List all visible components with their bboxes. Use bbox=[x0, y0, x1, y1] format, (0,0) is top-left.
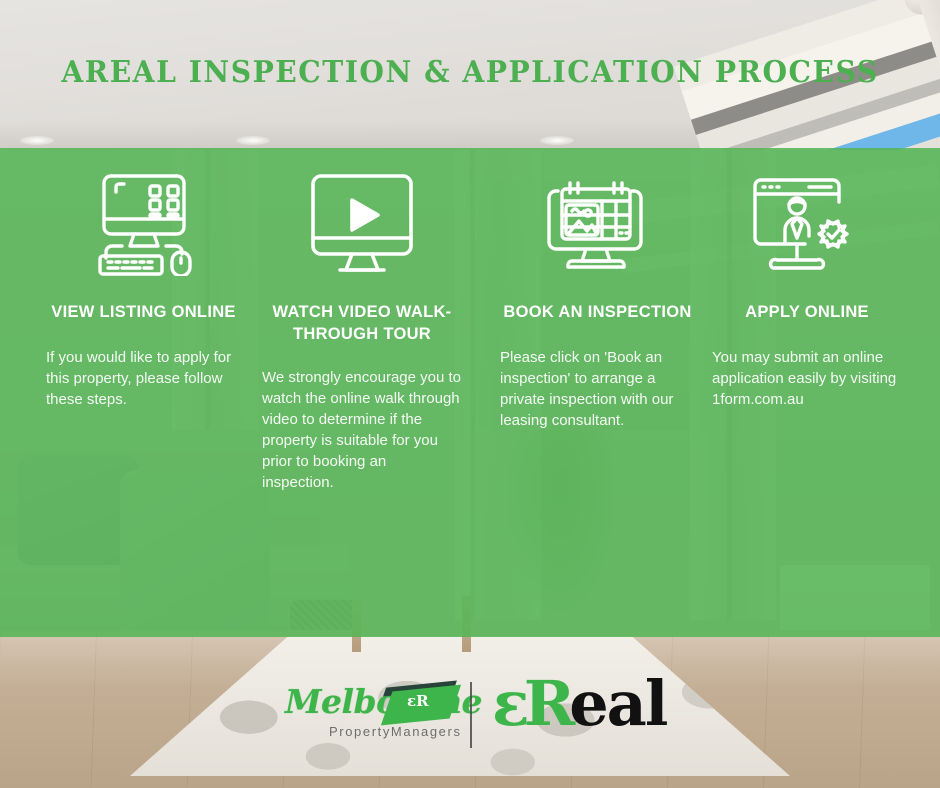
property-managers-subtitle: PropertyManagers bbox=[329, 724, 462, 739]
step-body: If you would like to apply for this prop… bbox=[46, 347, 241, 410]
step-body: We strongly encourage you to watch the o… bbox=[262, 367, 462, 493]
melbourne-property-managers-logo[interactable]: Melbourne ɛR PropertyManagers bbox=[285, 678, 455, 748]
step-view-listing-online[interactable]: VIEW LISTING ONLINE If you would like to… bbox=[46, 148, 241, 637]
steps-row: VIEW LISTING ONLINE If you would like to… bbox=[0, 148, 940, 637]
monitor-calendar-photo-icon bbox=[500, 148, 695, 291]
step-apply-online[interactable]: APPLY ONLINE You may submit an online ap… bbox=[712, 148, 902, 637]
step-watch-video-walkthrough[interactable]: WATCH VIDEO WALK-THROUGH TOUR We strongl… bbox=[262, 148, 462, 637]
monitor-keyboard-mouse-icon bbox=[46, 148, 241, 291]
ceiling-light bbox=[236, 136, 270, 145]
areal-er-mark: ɛR bbox=[492, 667, 569, 740]
monitor-play-video-icon bbox=[262, 148, 462, 291]
page-title: AREAL INSPECTION & APPLICATION PROCESS bbox=[28, 55, 912, 90]
step-heading: WATCH VIDEO WALK-THROUGH TOUR bbox=[262, 301, 462, 345]
ceiling-light bbox=[20, 136, 54, 145]
step-heading: BOOK AN INSPECTION bbox=[500, 301, 695, 323]
logo-divider bbox=[470, 682, 472, 748]
step-heading: APPLY ONLINE bbox=[712, 301, 902, 323]
step-heading: VIEW LISTING ONLINE bbox=[46, 301, 241, 323]
er-monogram: ɛR bbox=[407, 692, 429, 710]
monitor-person-gear-check-icon bbox=[712, 148, 902, 291]
step-book-an-inspection[interactable]: BOOK AN INSPECTION Please click on 'Book… bbox=[500, 148, 695, 637]
ceiling-light bbox=[540, 136, 574, 145]
step-body: You may submit an online application eas… bbox=[712, 347, 902, 410]
areal-wordmark: eal bbox=[569, 667, 666, 740]
step-body: Please click on 'Book an inspection' to … bbox=[500, 347, 695, 431]
infographic-poster: AREAL INSPECTION & APPLICATION PROCESS bbox=[0, 0, 940, 788]
